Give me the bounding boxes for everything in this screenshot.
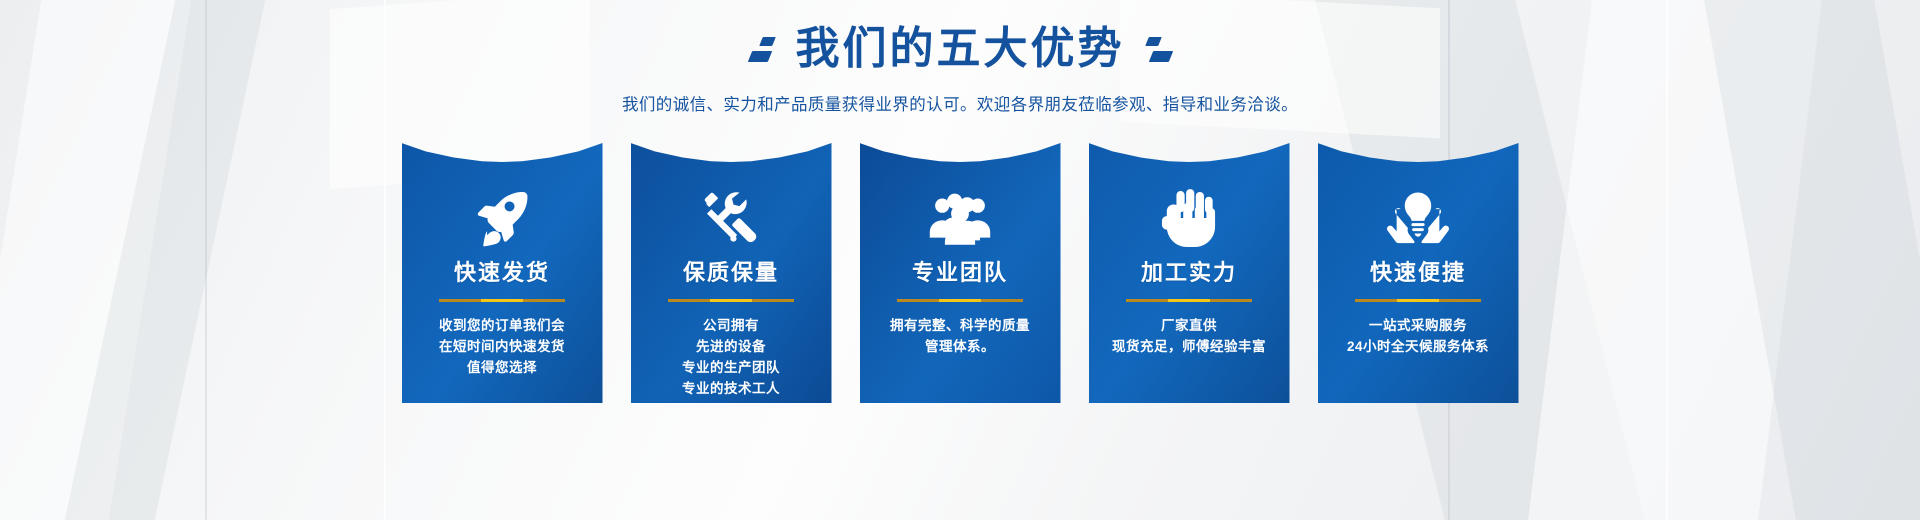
card-divider: [1126, 299, 1252, 302]
sparkle-icon: [750, 37, 774, 62]
advantage-card-fast-shipping[interactable]: 快速发货 收到您的订单我们会 在短时间内快速发货 值得您选择: [402, 143, 603, 403]
card-desc-line: 一站式采购服务: [1318, 315, 1519, 336]
hands-lightbulb-icon: [1318, 183, 1519, 255]
card-title: 快速发货: [402, 261, 603, 285]
card-description: 一站式采购服务 24小时全天候服务体系: [1318, 315, 1519, 357]
advantage-card-processing-strength[interactable]: 加工实力 厂家直供 现货充足，师傅经验丰富: [1089, 143, 1290, 403]
card-description: 厂家直供 现货充足，师傅经验丰富: [1089, 315, 1290, 357]
card-desc-line: 拥有完整、科学的质量: [860, 315, 1061, 336]
section-header: 我们的五大优势 我们的诚信、实力和产品质量获得业界的认可。欢迎各界朋友莅临参观、…: [0, 0, 1920, 115]
card-desc-line: 公司拥有: [631, 315, 832, 336]
card-desc-line: 在短时间内快速发货: [402, 336, 603, 357]
card-divider: [668, 299, 794, 302]
advantage-card-professional-team[interactable]: 专业团队 拥有完整、科学的质量 管理体系。: [860, 143, 1061, 403]
card-desc-line: 24小时全天候服务体系: [1318, 336, 1519, 357]
card-desc-line: 先进的设备: [631, 336, 832, 357]
card-description: 收到您的订单我们会 在短时间内快速发货 值得您选择: [402, 315, 603, 378]
team-group-icon: [860, 183, 1061, 255]
title-row: 我们的五大优势: [0, 20, 1920, 78]
card-desc-line: 值得您选择: [402, 357, 603, 378]
card-divider: [897, 299, 1023, 302]
card-divider: [439, 299, 565, 302]
card-title: 快速便捷: [1318, 261, 1519, 285]
card-desc-line: 专业的技术工人: [631, 378, 832, 399]
card-desc-line: 现货充足，师傅经验丰富: [1089, 336, 1290, 357]
card-title: 专业团队: [860, 261, 1061, 285]
advantage-card-list: 快速发货 收到您的订单我们会 在短时间内快速发货 值得您选择 保质保量 公司拥有: [0, 143, 1920, 403]
advantage-card-quality-guarantee[interactable]: 保质保量 公司拥有 先进的设备 专业的生产团队 专业的技术工人: [631, 143, 832, 403]
card-description: 公司拥有 先进的设备 专业的生产团队 专业的技术工人: [631, 315, 832, 399]
wrench-screwdriver-icon: [631, 183, 832, 255]
card-desc-line: 专业的生产团队: [631, 357, 832, 378]
fist-icon: [1089, 183, 1290, 255]
rocket-icon: [402, 183, 603, 255]
card-divider: [1355, 299, 1481, 302]
card-title: 加工实力: [1089, 261, 1290, 285]
sparkle-icon: [1147, 37, 1171, 62]
card-desc-line: 管理体系。: [860, 336, 1061, 357]
card-title: 保质保量: [631, 261, 832, 285]
page-subtitle: 我们的诚信、实力和产品质量获得业界的认可。欢迎各界朋友莅临参观、指导和业务洽谈。: [0, 91, 1920, 115]
card-description: 拥有完整、科学的质量 管理体系。: [860, 315, 1061, 357]
advantage-card-fast-convenient[interactable]: 快速便捷 一站式采购服务 24小时全天候服务体系: [1318, 143, 1519, 403]
card-desc-line: 厂家直供: [1089, 315, 1290, 336]
page-title: 我们的五大优势: [796, 20, 1125, 78]
card-desc-line: 收到您的订单我们会: [402, 315, 603, 336]
